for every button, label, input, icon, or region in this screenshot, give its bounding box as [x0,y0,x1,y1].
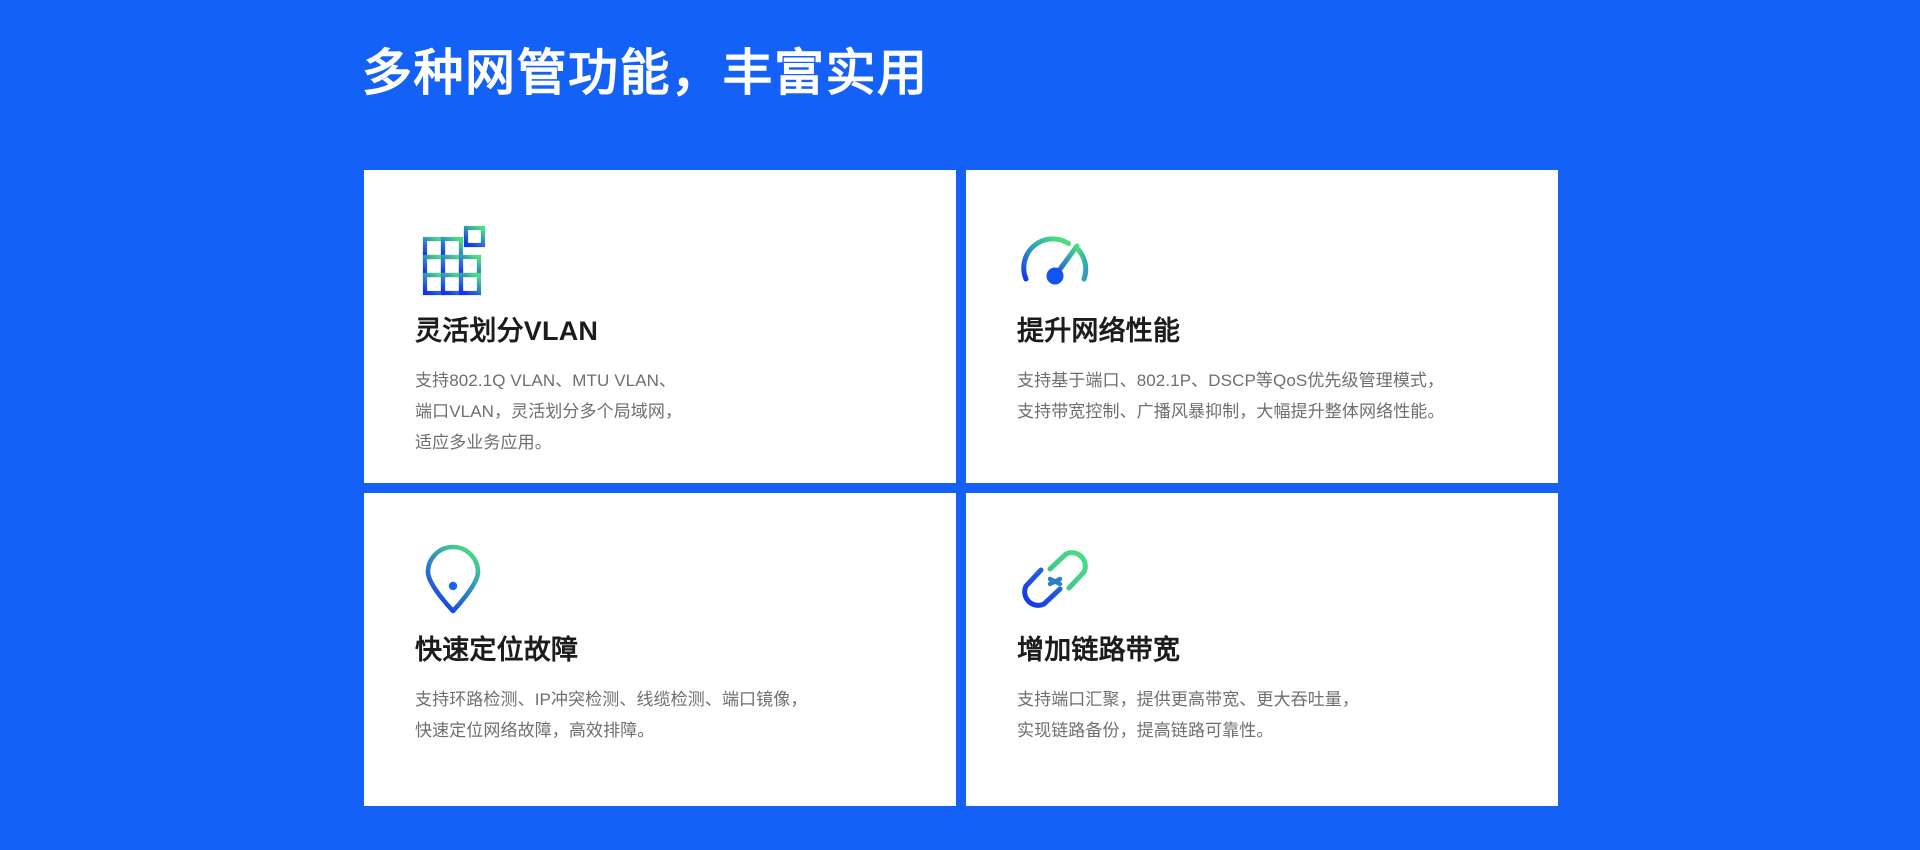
broken-link-icon [1017,541,1093,617]
description-line: 支持环路检测、IP冲突检测、线缆检测、端口镜像， [415,684,956,715]
feature-card-description: 支持基于端口、802.1P、DSCP等QoS优先级管理模式， 支持带宽控制、广播… [1017,365,1558,427]
feature-card-fault-locate[interactable]: 快速定位故障 支持环路检测、IP冲突检测、线缆检测、端口镜像， 快速定位网络故障… [364,493,956,806]
description-line: 端口VLAN，灵活划分多个局域网， [415,396,956,427]
vlan-grid-icon [415,222,491,298]
feature-card-description: 支持端口汇聚，提供更高带宽、更大吞吐量， 实现链路备份，提高链路可靠性。 [1017,684,1558,746]
fault-locate-pin-icon [415,541,491,617]
description-line: 支持带宽控制、广播风暴抑制，大幅提升整体网络性能。 [1017,396,1558,427]
feature-section-page: 多种网管功能，丰富实用 [0,0,1920,850]
feature-card-title: 提升网络性能 [1017,314,1558,348]
description-line: 适应多业务应用。 [415,427,956,458]
feature-card-performance[interactable]: 提升网络性能 支持基于端口、802.1P、DSCP等QoS优先级管理模式， 支持… [966,170,1558,483]
description-line: 实现链路备份，提高链路可靠性。 [1017,715,1558,746]
page-title: 多种网管功能，丰富实用 [362,42,929,104]
feature-card-description: 支持环路检测、IP冲突检测、线缆检测、端口镜像， 快速定位网络故障，高效排障。 [415,684,956,746]
description-line: 支持802.1Q VLAN、MTU VLAN、 [415,365,956,396]
feature-card-vlan[interactable]: 灵活划分VLAN 支持802.1Q VLAN、MTU VLAN、 端口VLAN，… [364,170,956,483]
description-line: 支持端口汇聚，提供更高带宽、更大吞吐量， [1017,684,1558,715]
performance-gauge-icon [1017,222,1093,298]
feature-card-link-bandwidth[interactable]: 增加链路带宽 支持端口汇聚，提供更高带宽、更大吞吐量， 实现链路备份，提高链路可… [966,493,1558,806]
description-line: 快速定位网络故障，高效排障。 [415,715,956,746]
feature-card-title: 灵活划分VLAN [415,314,956,348]
feature-card-title: 增加链路带宽 [1017,633,1558,667]
description-line: 支持基于端口、802.1P、DSCP等QoS优先级管理模式， [1017,365,1558,396]
feature-card-grid: 灵活划分VLAN 支持802.1Q VLAN、MTU VLAN、 端口VLAN，… [364,170,1558,806]
feature-card-description: 支持802.1Q VLAN、MTU VLAN、 端口VLAN，灵活划分多个局域网… [415,365,956,458]
feature-card-title: 快速定位故障 [415,633,956,667]
